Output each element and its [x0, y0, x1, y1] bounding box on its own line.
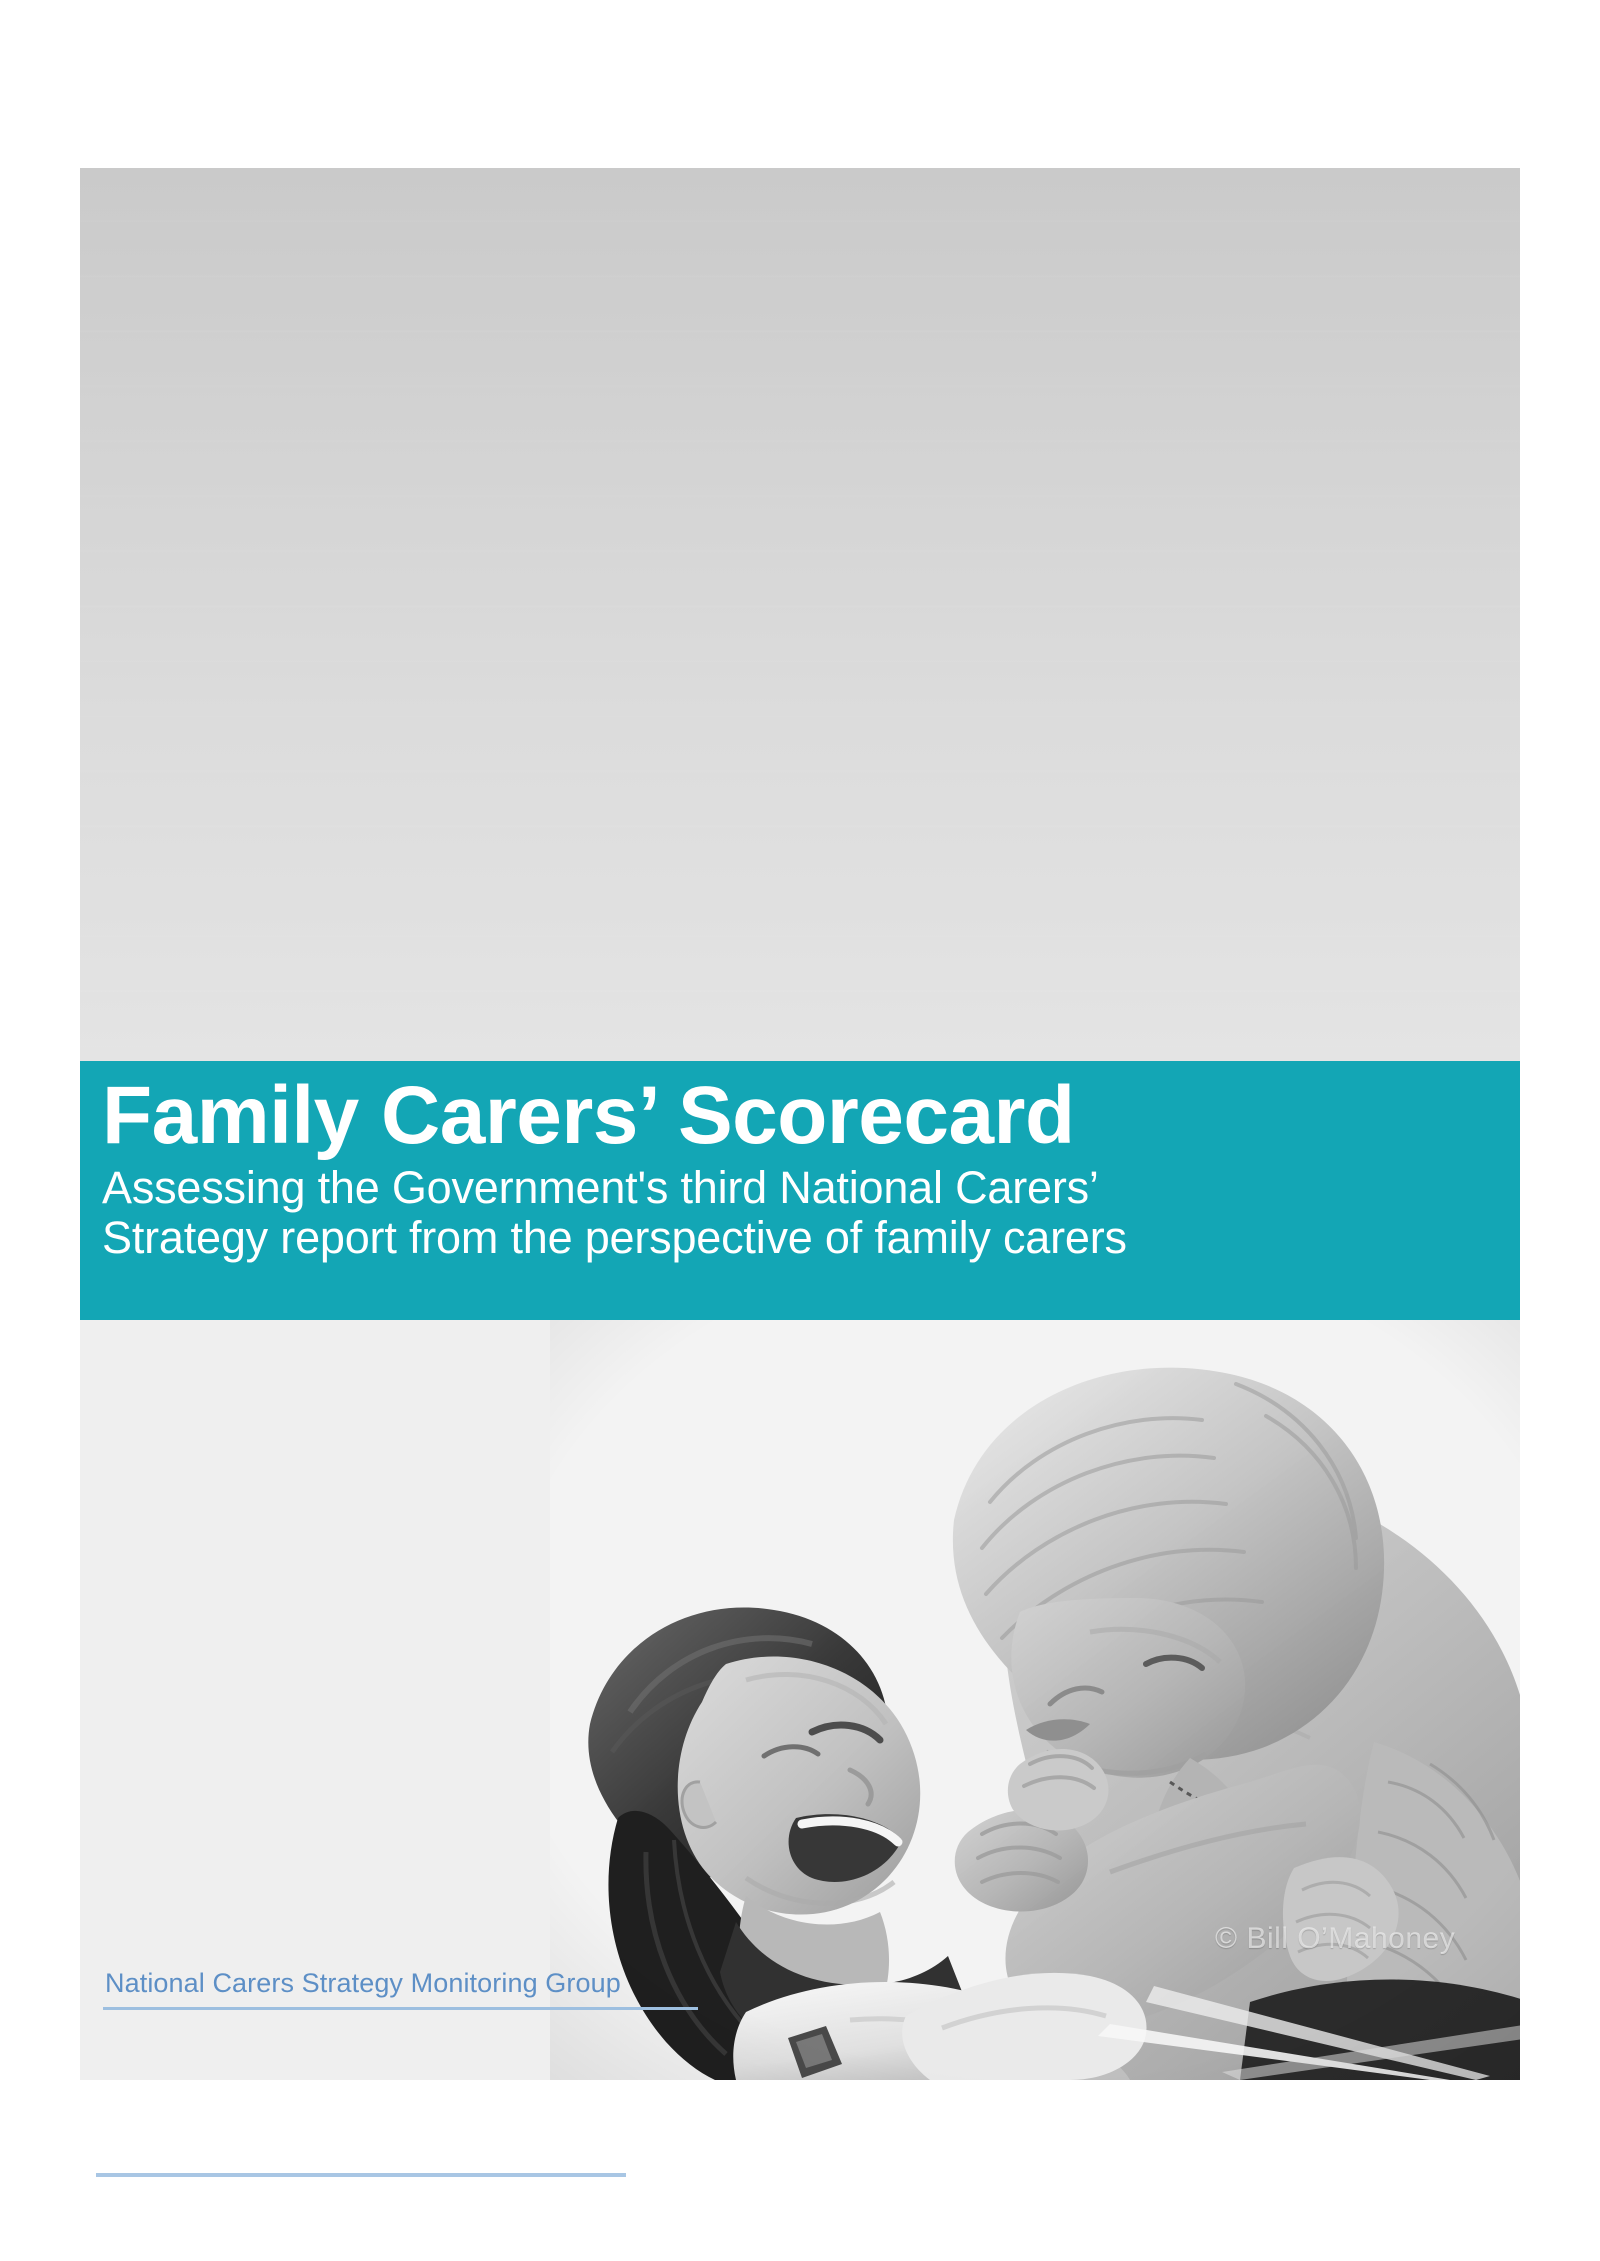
organisation-credit: National Carers Strategy Monitoring Grou… — [105, 1968, 621, 1999]
page-subtitle-line-2: Strategy report from the perspective of … — [102, 1213, 1520, 1263]
title-band: Family Carers’ Scorecard Assessing the G… — [80, 1061, 1520, 1320]
cover-page: Family Carers’ Scorecard Assessing the G… — [0, 0, 1600, 2261]
page-title: Family Carers’ Scorecard — [102, 1075, 1520, 1157]
page-subtitle: Assessing the Government's third Nationa… — [102, 1163, 1520, 1264]
footer-divider-rule — [96, 2173, 626, 2177]
hero-gradient-panel — [80, 168, 1520, 1061]
organisation-credit-underline — [103, 2007, 698, 2010]
lower-panel — [80, 1320, 1520, 2080]
cover-photograph — [550, 1320, 1520, 2080]
page-subtitle-line-1: Assessing the Government's third Nationa… — [102, 1163, 1520, 1213]
